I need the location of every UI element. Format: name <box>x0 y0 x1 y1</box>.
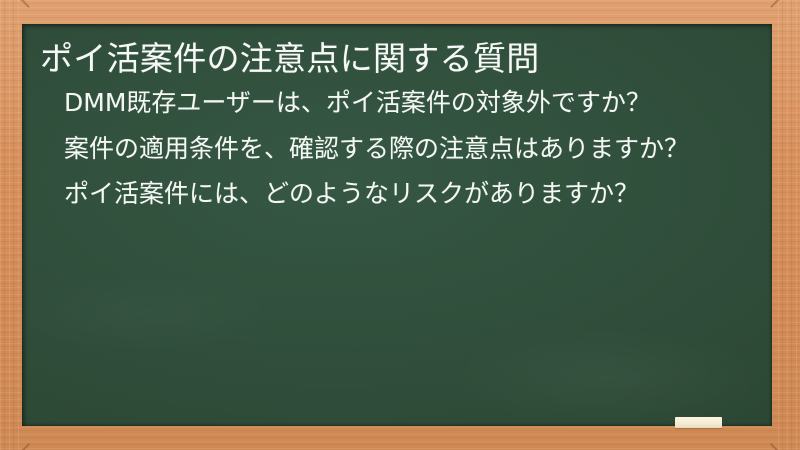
frame-corner-miter-bottom-left <box>0 442 30 450</box>
page-title: ポイ活案件の注意点に関する質問 <box>40 38 756 79</box>
list-item: ポイ活案件には、どのようなリスクがありますか？ <box>42 176 744 212</box>
question-list: DMM既存ユーザーは、ポイ活案件の対象外ですか？ 案件の適用条件を、確認する際の… <box>38 85 756 212</box>
frame-grain-left <box>0 0 22 450</box>
frame-corner-miter-bottom-right <box>770 442 800 450</box>
chalk-stick <box>675 417 722 428</box>
frame-grain-right <box>778 0 800 450</box>
frame-corner-miter-top-left <box>0 0 30 8</box>
chalkboard-surface: ポイ活案件の注意点に関する質問 DMM既存ユーザーは、ポイ活案件の対象外ですか？… <box>22 24 772 426</box>
list-item: 案件の適用条件を、確認する際の注意点はありますか？ <box>42 131 744 167</box>
frame-corner-miter-top-right <box>770 0 800 8</box>
chalkboard-content: ポイ活案件の注意点に関する質問 DMM既存ユーザーは、ポイ活案件の対象外ですか？… <box>22 24 772 426</box>
blackboard-frame: ポイ活案件の注意点に関する質問 DMM既存ユーザーは、ポイ活案件の対象外ですか？… <box>0 0 800 450</box>
list-item: DMM既存ユーザーは、ポイ活案件の対象外ですか？ <box>42 85 744 121</box>
